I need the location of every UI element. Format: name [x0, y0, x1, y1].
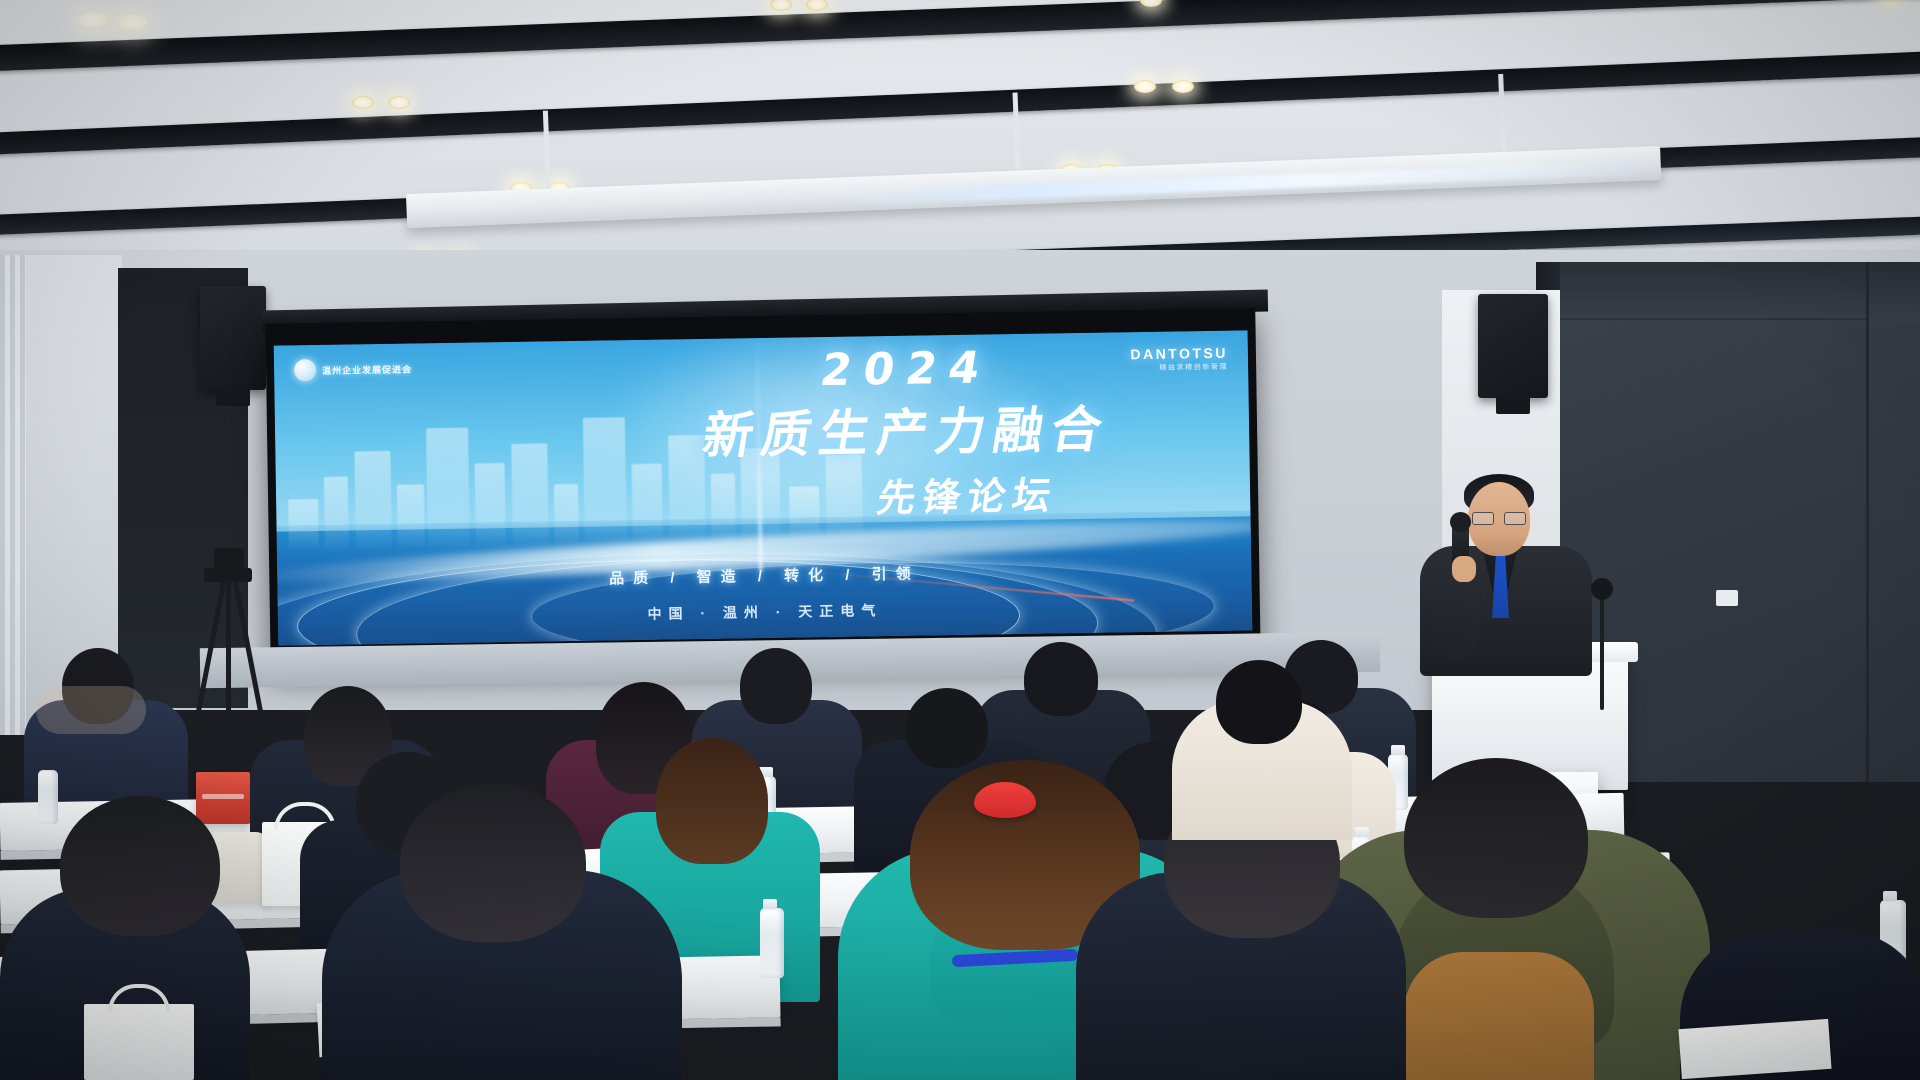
tote-bag [84, 1004, 194, 1080]
camera-body [214, 548, 244, 570]
gift-box [196, 772, 250, 824]
led-screen-display: 温州企业发展促进会 DANTOTSU 精益求精创新管理 2024 新质生产力融合… [274, 330, 1253, 645]
suspended-linear-light [403, 68, 1662, 246]
attendee-jacket-panel [1404, 952, 1594, 1080]
wall-speaker-right [1478, 294, 1548, 398]
ceiling-spotlight [770, 0, 792, 11]
attendee-head [1024, 642, 1098, 716]
wall-speaker-left [200, 286, 266, 390]
attendee-head [740, 648, 812, 724]
ceiling-spotlight [78, 12, 108, 28]
screen-title-block: 2024 新质生产力融合 先锋论坛 [586, 339, 1229, 527]
ceiling-spotlight [118, 14, 148, 30]
printed-handout [1678, 1019, 1831, 1079]
attendee-shoulder [36, 686, 146, 734]
ceiling-spotlight [1880, 0, 1902, 1]
wall-louver-panel [0, 255, 26, 735]
screen-main-title: 新质生产力融合 [581, 388, 1232, 470]
ceiling-light-strip [0, 0, 1920, 73]
water-bottle [38, 770, 58, 824]
light-switch-plate[interactable] [1716, 590, 1738, 606]
attendee-head [400, 784, 586, 942]
ceiling-spotlight [352, 96, 374, 109]
attendee-head [1404, 758, 1588, 918]
screen-logo-left: 温州企业发展促进会 [294, 357, 412, 381]
screen-logo-left-text: 温州企业发展促进会 [322, 362, 412, 376]
wall-seam [1866, 262, 1869, 782]
red-hair-bow-icon [974, 782, 1036, 818]
led-screen-frame: 温州企业发展促进会 DANTOTSU 精益求精创新管理 2024 新质生产力融合… [265, 308, 1260, 670]
eyeglasses-icon [1472, 512, 1526, 523]
water-bottle [760, 908, 784, 978]
floor-mic-stand [1600, 590, 1604, 710]
ceiling-spotlight [388, 96, 410, 109]
ceiling-spotlight [806, 0, 828, 11]
attendee-head [906, 688, 988, 768]
camera-tripod-leg [226, 580, 231, 740]
organization-emblem-icon [294, 359, 316, 381]
screen-sub-title: 先锋论坛 [704, 462, 1233, 525]
attendee-hair [656, 738, 768, 864]
attendee-head [60, 796, 220, 936]
conference-photo-scene: 温州企业发展促进会 DANTOTSU 精益求精创新管理 2024 新质生产力融合… [0, 0, 1920, 1080]
floor-mic-head [1591, 578, 1613, 600]
attendee-head [1216, 660, 1302, 744]
presenter-hand [1452, 556, 1476, 582]
wall-seam [1560, 318, 1866, 320]
